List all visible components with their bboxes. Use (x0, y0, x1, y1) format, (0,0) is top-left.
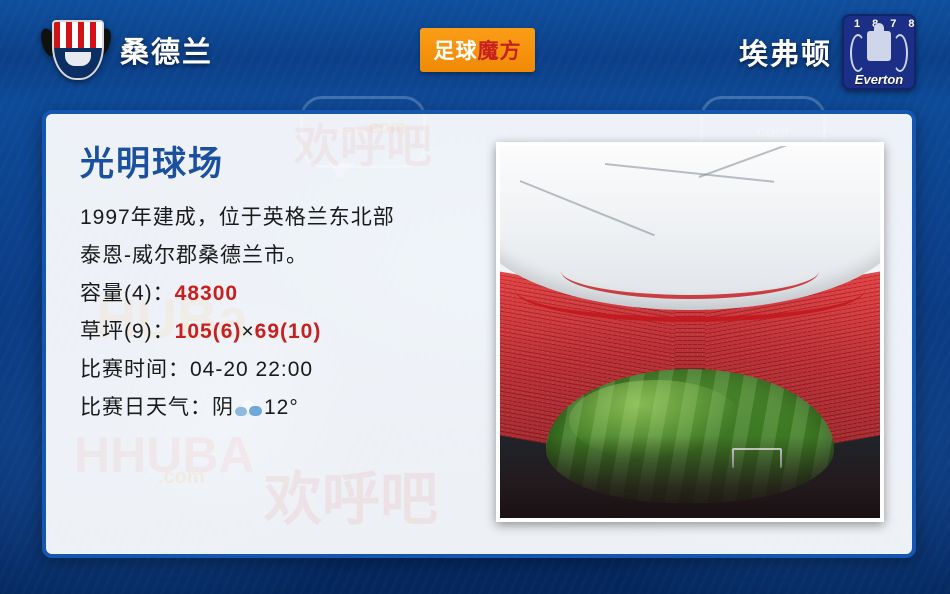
everton-crest-icon: 1878 Everton (842, 14, 916, 90)
capacity-value: 48300 (175, 282, 238, 305)
match-time-label: 比赛时间： (80, 358, 190, 381)
everton-year-right: 78 (890, 18, 926, 30)
photo-roof-truss-inner (561, 243, 819, 299)
site-logo[interactable]: 足球 魔方 (420, 28, 535, 72)
away-team-name: 埃弗顿 (739, 31, 832, 73)
stadium-info-panel: 欢呼吧 HUBa HHUBA 欢呼吧 .com .com 光明球场 1997年建… (42, 110, 916, 558)
match-time-value: 04-20 22:00 (190, 358, 313, 381)
sunderland-crest-icon (46, 16, 106, 84)
photo-lower-bowl (500, 436, 880, 518)
weather-temp: 12° (264, 396, 299, 419)
capacity-label: 容量(4)： (80, 282, 175, 305)
pitch-value-length: 105(6) (175, 320, 242, 343)
site-logo-text-2: 魔方 (478, 35, 522, 65)
stadium-desc-line-2: 泰恩-威尔郡桑德兰市。 (80, 237, 500, 275)
page-title: 光明球场 (80, 136, 500, 185)
capacity-row: 容量(4)：48300 (80, 275, 500, 313)
pitch-value-width: 69(10) (255, 320, 322, 343)
weather-text: 阴 (212, 396, 234, 419)
match-time-row: 比赛时间：04-20 22:00 (80, 351, 500, 389)
home-team-block[interactable]: 桑德兰 (46, 16, 213, 84)
stadium-desc-line-1: 1997年建成，位于英格兰东北部 (80, 199, 500, 237)
everton-year-left: 18 (854, 18, 890, 30)
watermark-text-4: 欢呼吧 (264, 452, 438, 536)
watermark-dotcom-panel-2: .com (364, 117, 406, 138)
stadium-photo (496, 142, 884, 522)
pitch-size-row: 草坪(9)：105(6)×69(10) (80, 313, 500, 351)
watermark-text-3: HHUBA (74, 426, 255, 484)
weather-row: 比赛日天气：阴12° (80, 389, 500, 427)
match-header-bar: 桑德兰 足球 魔方 埃弗顿 1878 Everton (0, 0, 950, 92)
home-team-name: 桑德兰 (120, 29, 213, 71)
pitch-separator: × (241, 320, 254, 343)
everton-crest-name: Everton (842, 72, 916, 87)
away-team-block[interactable]: 埃弗顿 1878 Everton (739, 14, 916, 90)
stadium-info-text: 光明球场 1997年建成，位于英格兰东北部 泰恩-威尔郡桑德兰市。 容量(4)：… (80, 136, 500, 427)
pitch-label: 草坪(9)： (80, 320, 175, 343)
watermark-dotcom-panel: .com (158, 466, 205, 489)
weather-label: 比赛日天气： (80, 396, 212, 419)
site-logo-text-1: 足球 (434, 35, 478, 65)
cloudy-icon (235, 399, 263, 417)
